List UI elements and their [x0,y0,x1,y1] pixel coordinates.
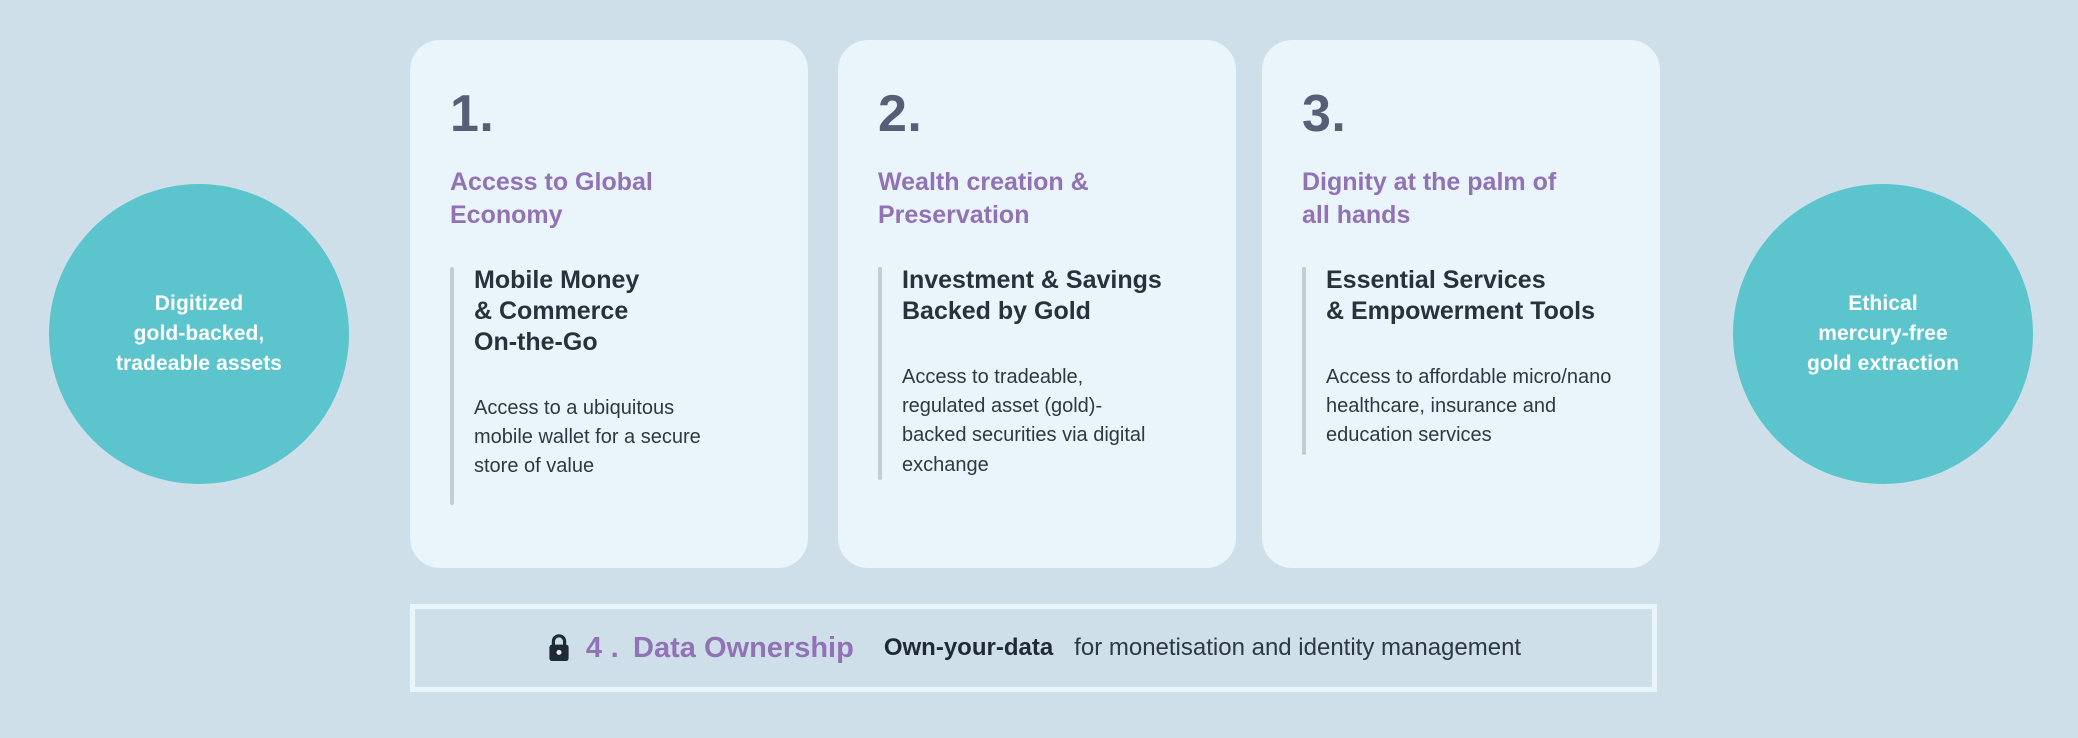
accent-bar-icon [878,267,882,480]
infographic-canvas: Digitized gold-backed, tradeable assets … [0,0,2078,738]
circle-right-label: Ethical mercury-free gold extraction [1807,289,1959,378]
circle-left-label: Digitized gold-backed, tradeable assets [116,289,282,378]
card-3-body-text: Access to affordable micro/nano healthca… [1326,363,1620,451]
card-1-body: Mobile Money & Commerce On-the-Go Access… [450,265,768,505]
bottom-bar-data-ownership[interactable]: 4 . Data Ownership Own-your-data for mon… [410,604,1657,692]
bottom-bar-number: 4 . [586,632,619,665]
card-3-heading: Dignity at the palm of all hands [1302,166,1620,231]
card-1-heading: Access to Global Economy [450,166,768,231]
circle-right-ethical-extraction: Ethical mercury-free gold extraction [1733,184,2033,484]
card-3-number: 3. [1302,88,1620,140]
bottom-bar-rest-text: for monetisation and identity management [1074,634,1521,662]
bottom-bar-strong-text: Own-your-data [884,634,1053,662]
circle-left-digitized-assets: Digitized gold-backed, tradeable assets [49,184,349,484]
card-2-number: 2. [878,88,1196,140]
card-2-body: Investment & Savings Backed by Gold Acce… [878,265,1196,480]
card-1-number: 1. [450,88,768,140]
card-3-body-title: Essential Services & Empowerment Tools [1326,265,1620,327]
lock-icon [546,633,572,663]
card-1-body-title: Mobile Money & Commerce On-the-Go [474,265,768,358]
card-1-body-text: Access to a ubiquitous mobile wallet for… [474,394,768,482]
card-2-body-text: Access to tradeable, regulated asset (go… [902,363,1196,480]
card-2-body-title: Investment & Savings Backed by Gold [902,265,1196,327]
card-2-wealth-creation-preservation[interactable]: 2. Wealth creation & Preservation Invest… [838,40,1236,568]
accent-bar-icon [1302,267,1306,455]
card-3-dignity-at-the-palm-of-all-hands[interactable]: 3. Dignity at the palm of all hands Esse… [1262,40,1660,568]
card-2-heading: Wealth creation & Preservation [878,166,1196,231]
accent-bar-icon [450,267,454,505]
bottom-bar-title: Data Ownership [633,632,854,665]
card-1-access-to-global-economy[interactable]: 1. Access to Global Economy Mobile Money… [410,40,808,568]
card-3-body: Essential Services & Empowerment Tools A… [1302,265,1620,455]
